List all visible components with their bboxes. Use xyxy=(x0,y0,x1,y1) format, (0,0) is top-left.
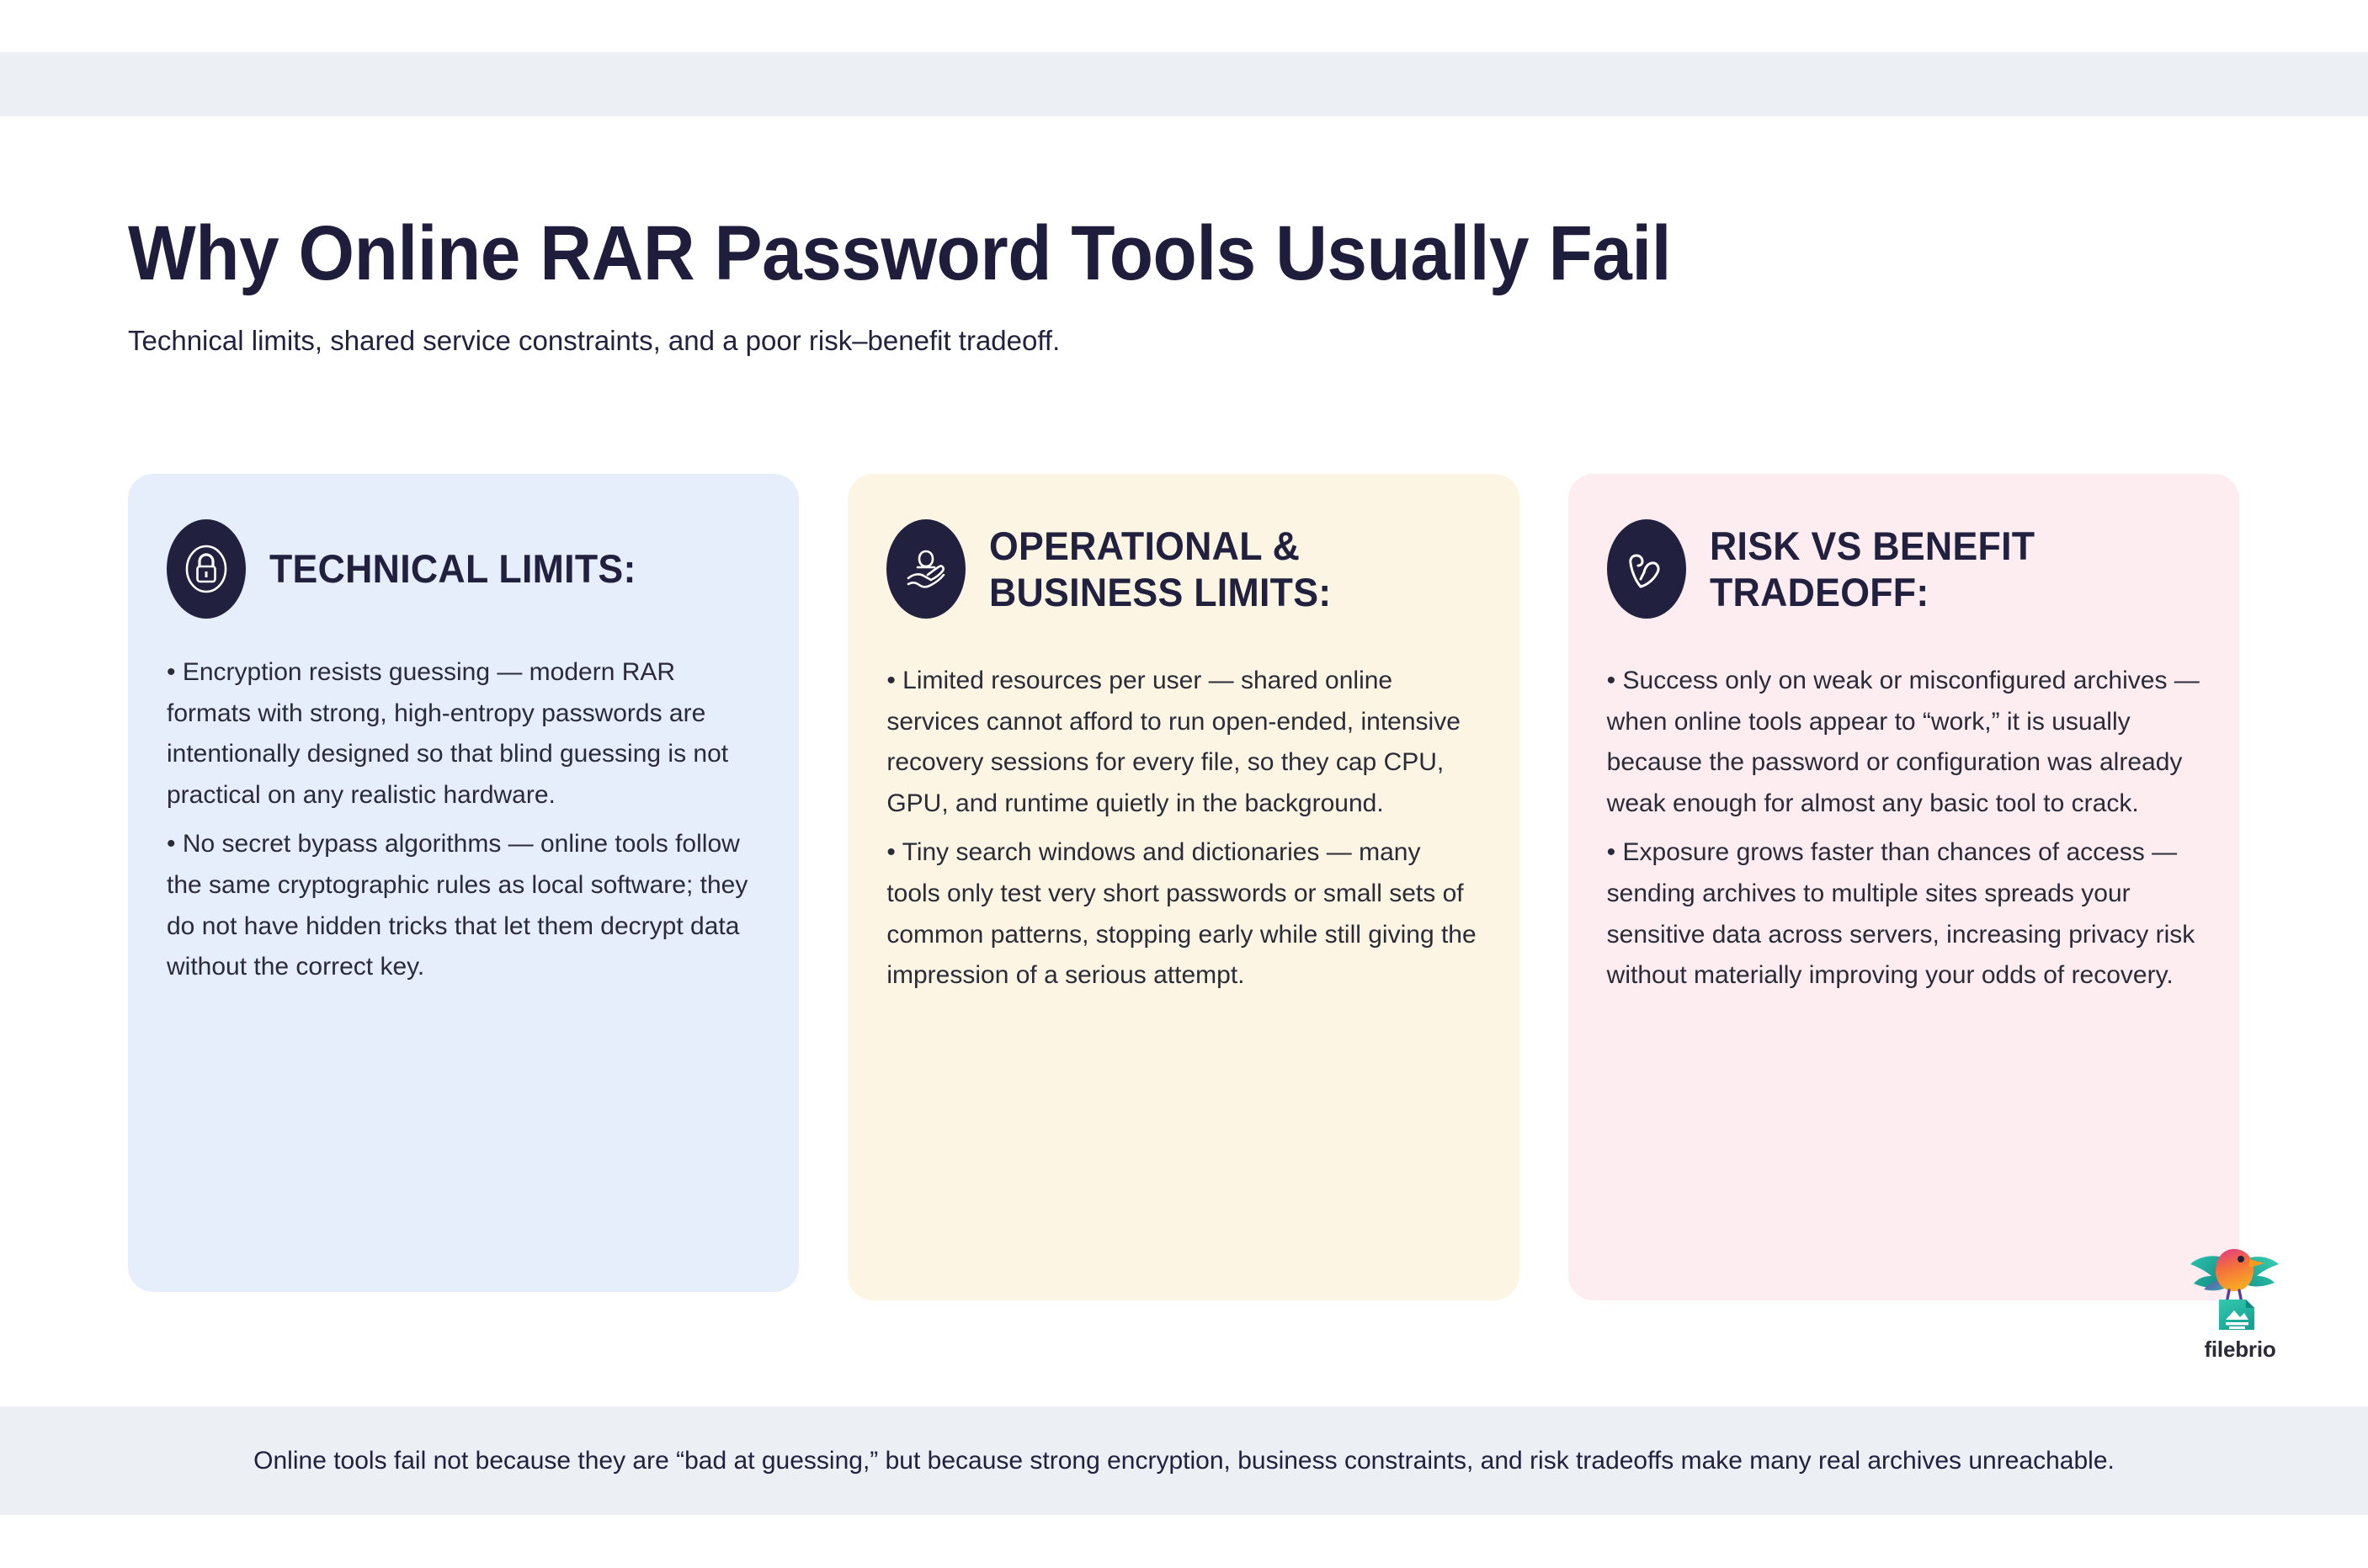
card-risk-vs-benefit-tradeoff: RISK VS BENEFIT TRADEOFF: • Success only… xyxy=(1568,474,2239,1300)
card-operational-business-limits: OPERATIONAL & BUSINESS LIMITS: • Limited… xyxy=(848,474,1519,1300)
infographic-page: Why Online RAR Password Tools Usually Fa… xyxy=(0,0,2368,1568)
card-body: • Encryption resists guessing — modern R… xyxy=(167,652,760,988)
card-body: • Limited resources per user — shared on… xyxy=(886,661,1480,997)
card-bullet: • Encryption resists guessing — modern R… xyxy=(167,652,760,816)
footer-text: Online tools fail not because they are “… xyxy=(253,1447,2115,1475)
card-header: OPERATIONAL & BUSINESS LIMITS: xyxy=(886,519,1480,619)
card-technical-limits: TECHNICAL LIMITS: • Encryption resists g… xyxy=(128,474,799,1292)
bird-on-file-icon xyxy=(2185,1242,2295,1335)
card-bullet: • Tiny search windows and dictionaries —… xyxy=(886,832,1480,996)
logo-wordmark: filebrio xyxy=(2185,1337,2295,1363)
header: Why Online RAR Password Tools Usually Fa… xyxy=(128,215,2232,358)
card-title: OPERATIONAL & BUSINESS LIMITS: xyxy=(989,523,1455,616)
top-accent-band xyxy=(0,52,2368,116)
card-bullet: • Limited resources per user — shared on… xyxy=(886,661,1480,824)
card-header: RISK VS BENEFIT TRADEOFF: xyxy=(1607,519,2200,619)
card-bullet: • Success only on weak or misconfigured … xyxy=(1607,661,2200,824)
card-bullet: • Exposure grows faster than chances of … xyxy=(1607,832,2200,996)
flexed-arm-icon xyxy=(1607,519,1686,619)
hand-holding-person-icon xyxy=(886,519,966,619)
card-bullet: • No secret bypass algorithms — online t… xyxy=(167,824,760,987)
card-header: TECHNICAL LIMITS: xyxy=(167,519,760,619)
card-title: TECHNICAL LIMITS: xyxy=(269,545,636,592)
card-title: RISK VS BENEFIT TRADEOFF: xyxy=(1710,523,2176,616)
card-body: • Success only on weak or misconfigured … xyxy=(1607,661,2200,997)
padlock-icon xyxy=(167,519,246,619)
footer-band: Online tools fail not because they are “… xyxy=(0,1406,2368,1515)
page-subtitle: Technical limits, shared service constra… xyxy=(128,324,2232,358)
page-title: Why Online RAR Password Tools Usually Fa… xyxy=(128,215,2085,292)
cards-row: TECHNICAL LIMITS: • Encryption resists g… xyxy=(128,474,2239,1300)
brand-logo: filebrio xyxy=(2185,1242,2295,1363)
